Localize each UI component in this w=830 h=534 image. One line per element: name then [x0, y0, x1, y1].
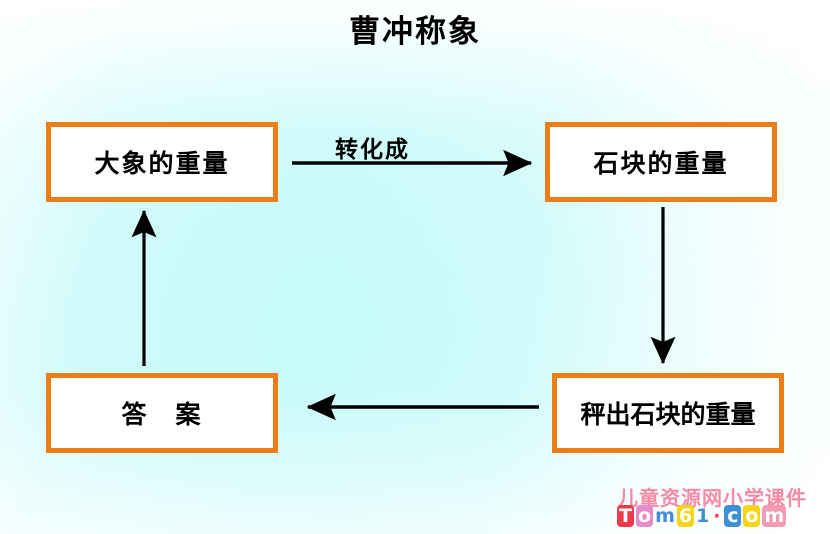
- watermark-logo-char-4: 1: [695, 505, 710, 527]
- edge-label-convert: 转化成: [335, 130, 410, 164]
- watermark-logo: Tom61·com: [616, 505, 787, 527]
- watermark-logo-char-8: m: [762, 505, 786, 527]
- watermark-logo-char-5: ·: [710, 505, 723, 527]
- watermark-logo-char-3: 6: [677, 505, 694, 527]
- slide-canvas: 曹冲称象: [0, 0, 830, 534]
- watermark-logo-char-7: o: [743, 505, 760, 527]
- watermark-logo-char-0: T: [617, 505, 634, 527]
- watermark-logo-char-2: m: [654, 505, 676, 527]
- watermark: 儿童资源网小学课件 Tom61·com: [616, 482, 826, 534]
- node-stone-weight[interactable]: 石块的重量: [545, 122, 777, 202]
- watermark-logo-char-1: o: [636, 505, 653, 527]
- watermark-logo-char-6: c: [724, 505, 741, 527]
- node-weigh-stones[interactable]: 秤出石块的重量: [552, 373, 784, 453]
- node-answer[interactable]: 答 案: [46, 373, 278, 453]
- node-elephant-weight[interactable]: 大象的重量: [46, 122, 278, 202]
- diagram-arrows: [0, 0, 830, 534]
